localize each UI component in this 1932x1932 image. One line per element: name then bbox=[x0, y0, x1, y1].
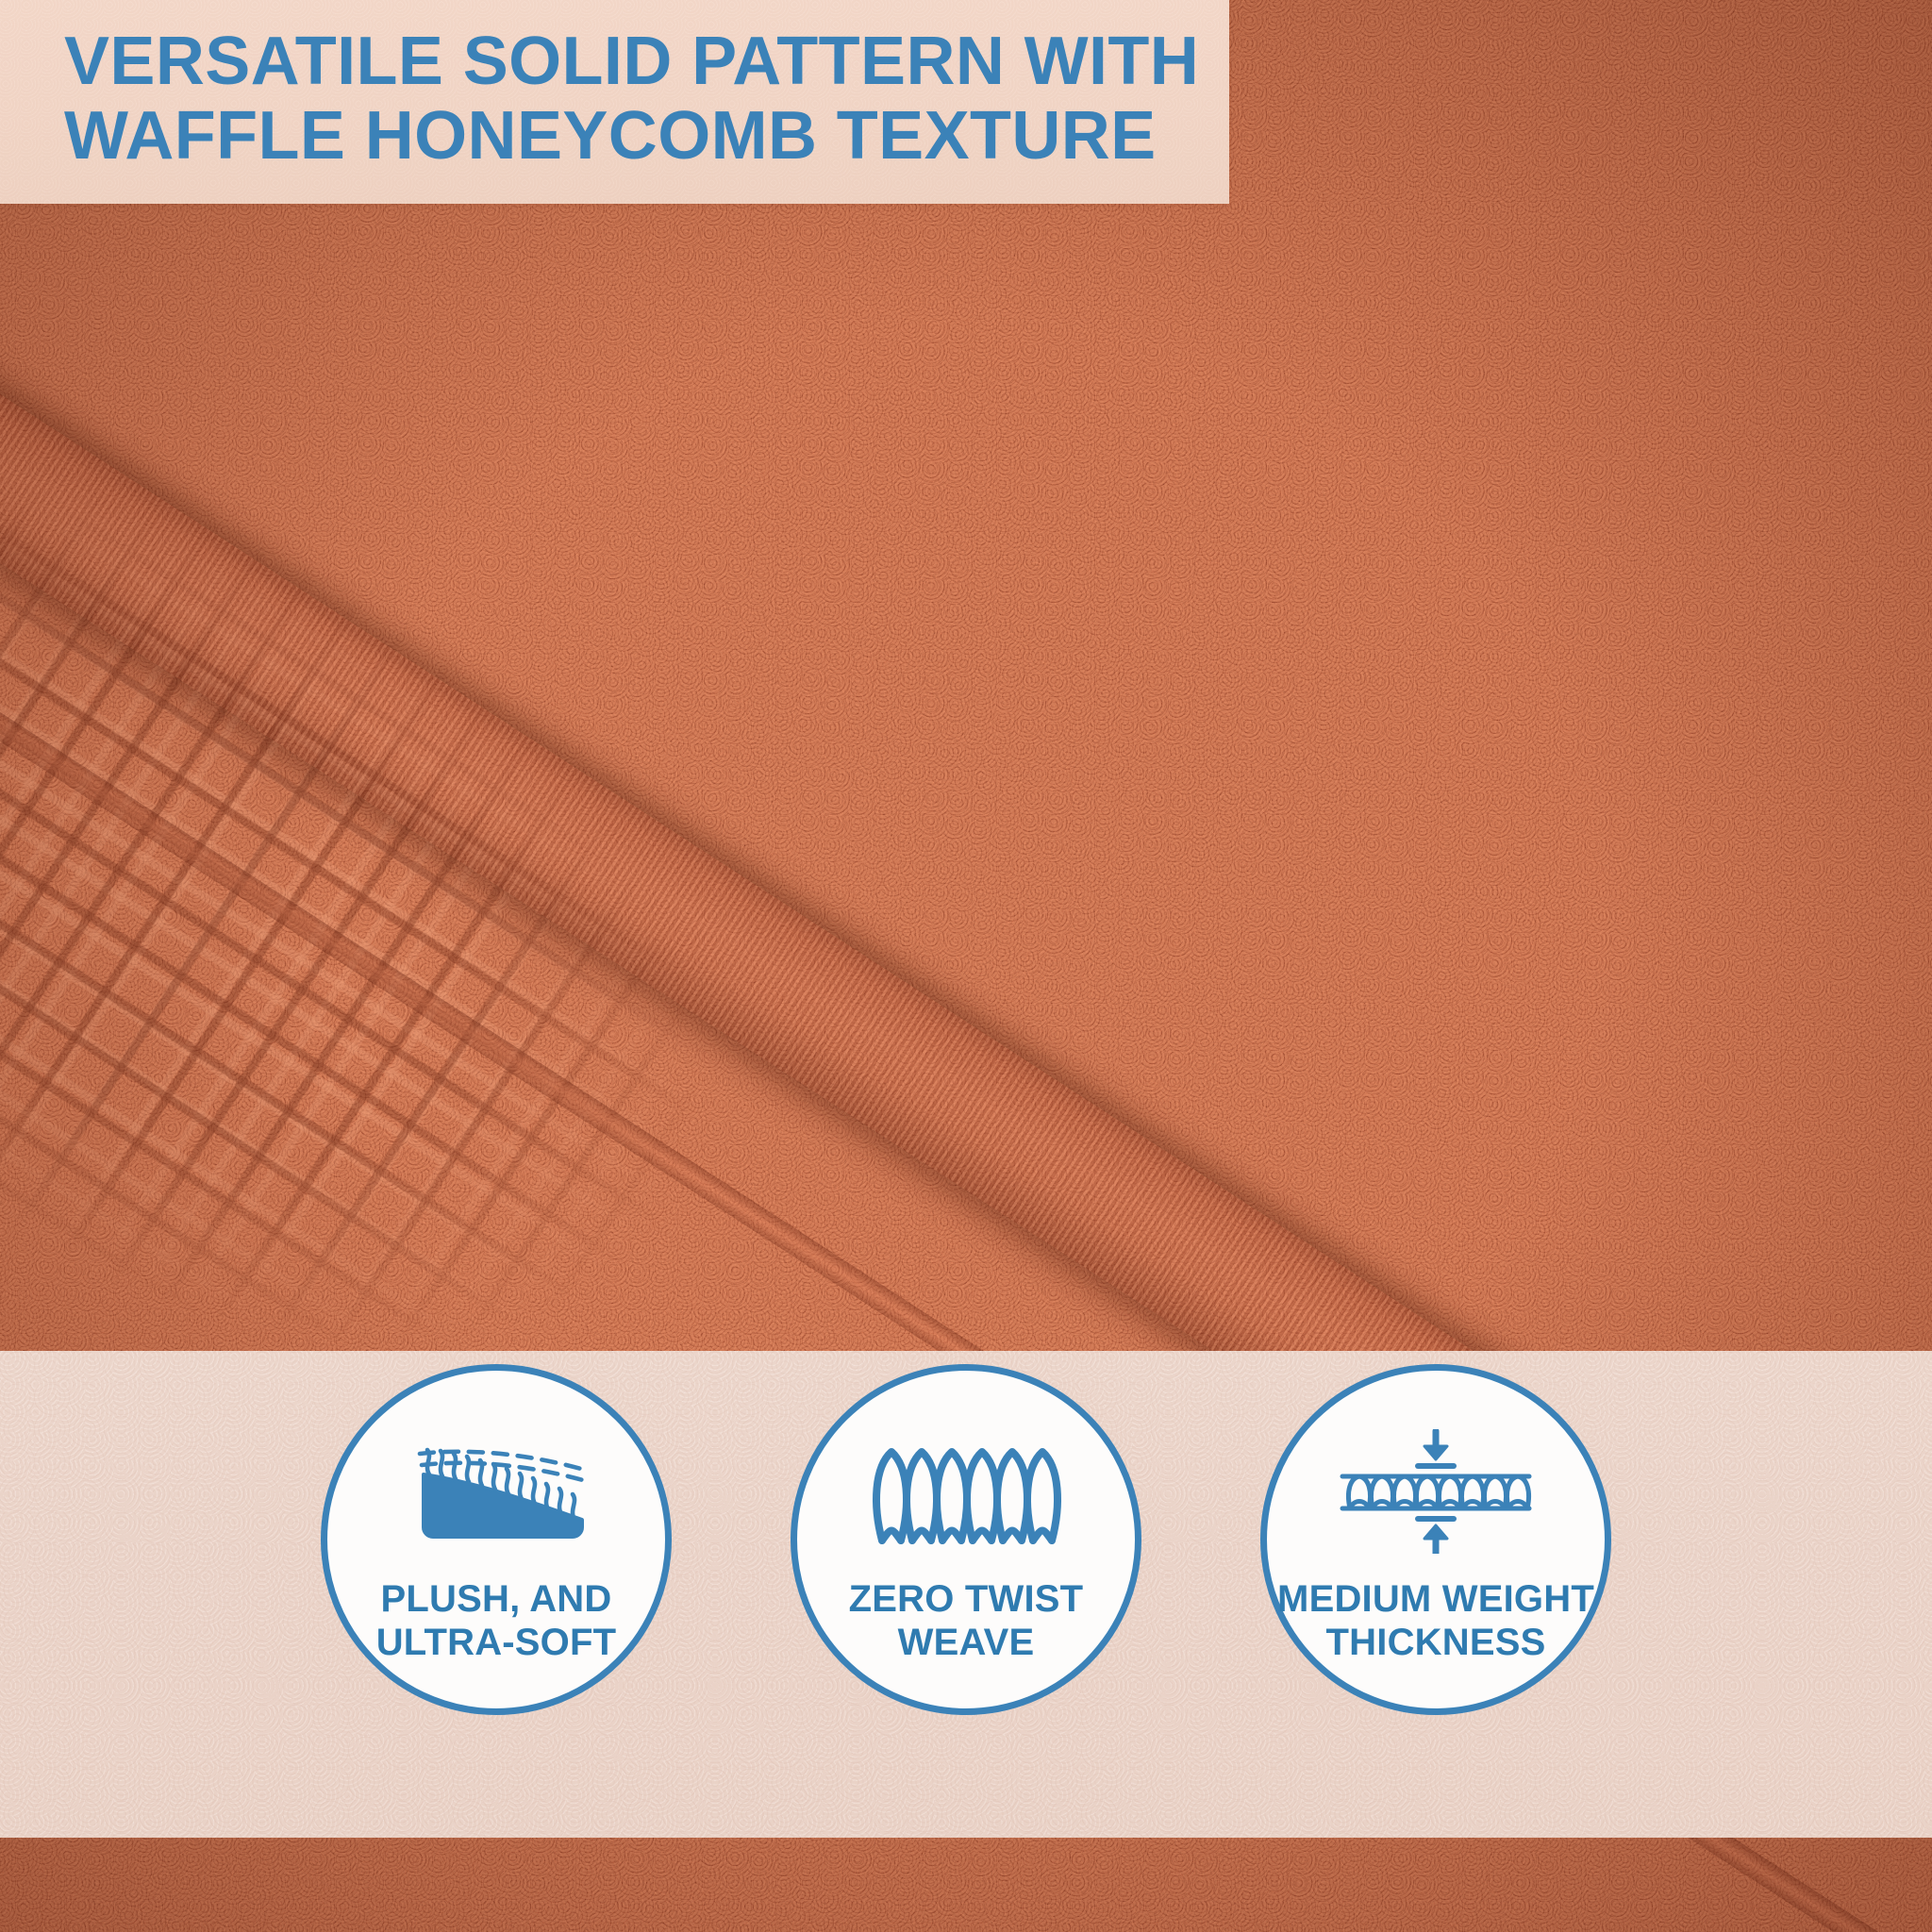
feature-badge-plush[interactable]: PLUSH, AND ULTRA-SOFT bbox=[321, 1364, 672, 1715]
thickness-compression-arrows-icon bbox=[1327, 1429, 1544, 1554]
plush-fabric-icon bbox=[388, 1429, 605, 1554]
feature-badge-thickness[interactable]: MEDIUM WEIGHT THICKNESS bbox=[1260, 1364, 1611, 1715]
zero-twist-yarn-loops-icon bbox=[858, 1429, 1074, 1554]
feature-label-thickness: MEDIUM WEIGHT THICKNESS bbox=[1277, 1578, 1594, 1664]
product-feature-image: VERSATILE SOLID PATTERN WITH WAFFLE HONE… bbox=[0, 0, 1932, 1932]
feature-panel: PLUSH, AND ULTRA-SOFT ZERO TWIST WEAVE bbox=[0, 1351, 1932, 1838]
headline-text: VERSATILE SOLID PATTERN WITH WAFFLE HONE… bbox=[64, 25, 1229, 174]
feature-label-zero-twist: ZERO TWIST WEAVE bbox=[849, 1578, 1084, 1664]
feature-badge-zero-twist[interactable]: ZERO TWIST WEAVE bbox=[791, 1364, 1141, 1715]
headline-banner: VERSATILE SOLID PATTERN WITH WAFFLE HONE… bbox=[0, 0, 1229, 204]
feature-label-plush: PLUSH, AND ULTRA-SOFT bbox=[376, 1578, 617, 1664]
